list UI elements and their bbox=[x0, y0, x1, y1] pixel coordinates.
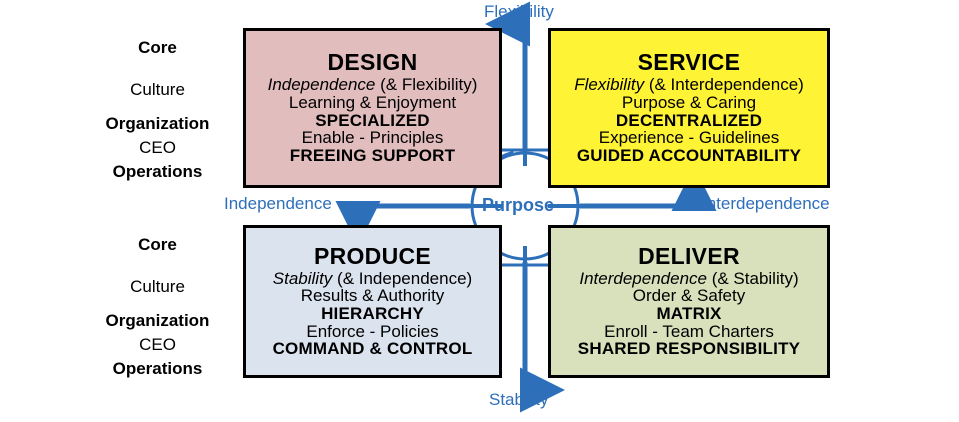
diagram-canvas: Core Culture Organization CEO Operations… bbox=[0, 0, 959, 422]
quadrant-produce-pair-emphasis: Stability bbox=[273, 269, 333, 288]
row-label-ceo-2: CEO bbox=[80, 335, 235, 355]
quadrant-design[interactable]: DESIGN Independence (& Flexibility) Lear… bbox=[243, 28, 502, 188]
quadrant-produce[interactable]: PRODUCE Stability (& Independence) Resul… bbox=[243, 225, 502, 378]
quadrant-produce-ceo: Enforce - Policies bbox=[306, 323, 438, 341]
quadrant-design-organization: SPECIALIZED bbox=[315, 112, 430, 130]
quadrant-service-organization: DECENTRALIZED bbox=[616, 112, 762, 130]
quadrant-service-operations: GUIDED ACCOUNTABILITY bbox=[577, 147, 801, 165]
quadrant-deliver-ceo: Enroll - Team Charters bbox=[604, 323, 774, 341]
quadrant-service-culture: Purpose & Caring bbox=[622, 94, 756, 112]
row-label-organization-2: Organization bbox=[80, 311, 235, 331]
quadrant-design-pair-rest: (& Flexibility) bbox=[375, 75, 477, 94]
quadrant-produce-culture: Results & Authority bbox=[301, 287, 445, 305]
quadrant-produce-organization: HIERARCHY bbox=[321, 305, 424, 323]
row-label-operations: Operations bbox=[80, 162, 235, 182]
quadrant-service[interactable]: SERVICE Flexibility (& Interdependence) … bbox=[548, 28, 830, 188]
row-label-ceo: CEO bbox=[80, 138, 235, 158]
row-label-operations-2: Operations bbox=[80, 359, 235, 379]
row-labels-bottom: Core Culture Organization CEO Operations bbox=[80, 225, 235, 378]
quadrant-service-ceo: Experience - Guidelines bbox=[599, 129, 779, 147]
quadrant-deliver-title: DELIVER bbox=[638, 245, 740, 269]
quadrant-service-title: SERVICE bbox=[638, 51, 741, 75]
quadrant-deliver-pair-rest: (& Stability) bbox=[707, 269, 799, 288]
quadrant-deliver-culture: Order & Safety bbox=[633, 287, 745, 305]
quadrant-produce-title: PRODUCE bbox=[314, 245, 431, 269]
quadrant-deliver-organization: MATRIX bbox=[656, 305, 721, 323]
row-label-core-2: Core bbox=[80, 235, 235, 255]
row-label-organization: Organization bbox=[80, 114, 235, 134]
row-label-culture-2: Culture bbox=[80, 277, 235, 297]
axis-label-independence: Independence bbox=[224, 194, 332, 214]
axis-label-stability: Stability bbox=[489, 390, 549, 410]
quadrant-service-pair: Flexibility (& Interdependence) bbox=[574, 76, 804, 94]
quadrant-deliver-operations: SHARED RESPONSIBILITY bbox=[578, 340, 800, 358]
quadrant-service-pair-emphasis: Flexibility bbox=[574, 75, 644, 94]
row-label-core: Core bbox=[80, 38, 235, 58]
axis-label-interdependence: Interdependence bbox=[702, 194, 830, 214]
quadrant-service-pair-rest: (& Interdependence) bbox=[644, 75, 804, 94]
quadrant-produce-pair: Stability (& Independence) bbox=[273, 270, 472, 288]
quadrant-design-culture: Learning & Enjoyment bbox=[289, 94, 456, 112]
quadrant-produce-operations: COMMAND & CONTROL bbox=[273, 340, 473, 358]
quadrant-deliver-pair: Interdependence (& Stability) bbox=[579, 270, 798, 288]
quadrant-design-operations: FREEING SUPPORT bbox=[290, 147, 455, 165]
quadrant-design-pair-emphasis: Independence bbox=[268, 75, 376, 94]
quadrant-produce-pair-rest: (& Independence) bbox=[332, 269, 472, 288]
row-label-culture: Culture bbox=[80, 80, 235, 100]
purpose-label: Purpose bbox=[482, 195, 554, 216]
quadrant-design-ceo: Enable - Principles bbox=[302, 129, 444, 147]
quadrant-design-title: DESIGN bbox=[328, 51, 418, 75]
quadrant-deliver[interactable]: DELIVER Interdependence (& Stability) Or… bbox=[548, 225, 830, 378]
quadrant-design-pair: Independence (& Flexibility) bbox=[268, 76, 478, 94]
axis-label-flexibility: Flexibility bbox=[484, 2, 554, 22]
row-labels-top: Core Culture Organization CEO Operations bbox=[80, 28, 235, 188]
quadrant-deliver-pair-emphasis: Interdependence bbox=[579, 269, 707, 288]
